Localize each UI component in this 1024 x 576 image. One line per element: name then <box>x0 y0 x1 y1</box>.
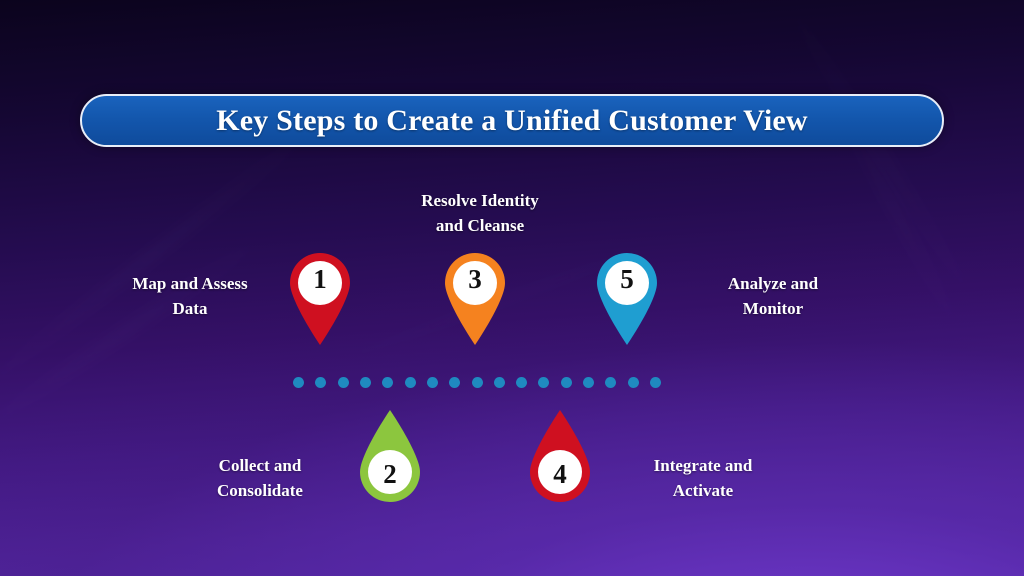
connector-dot <box>427 377 438 388</box>
step-pin-4[interactable]: 4 <box>525 410 595 506</box>
step-number-2: 2 <box>355 459 425 490</box>
step-label-2: Collect and Consolidate <box>166 453 354 503</box>
background-streak <box>784 0 976 304</box>
connector-dot <box>583 377 594 388</box>
page-title: Key Steps to Create a Unified Customer V… <box>216 104 808 138</box>
step-label-5: Analyze and Monitor <box>678 271 868 321</box>
connector-dot <box>494 377 505 388</box>
step-number-5: 5 <box>592 264 662 295</box>
dotted-connector-track <box>293 375 661 389</box>
step-label-1: Map and Assess Data <box>96 271 284 321</box>
connector-dot <box>605 377 616 388</box>
connector-dot <box>293 377 304 388</box>
connector-dot <box>382 377 393 388</box>
connector-dot <box>472 377 483 388</box>
step-number-4: 4 <box>525 459 595 490</box>
connector-dot <box>405 377 416 388</box>
step-pin-3[interactable]: 3 <box>440 249 510 345</box>
connector-dot <box>516 377 527 388</box>
step-number-3: 3 <box>440 264 510 295</box>
connector-dot <box>561 377 572 388</box>
connector-dot <box>650 377 661 388</box>
background-streak <box>0 238 263 425</box>
title-banner: Key Steps to Create a Unified Customer V… <box>80 94 944 147</box>
step-pin-5[interactable]: 5 <box>592 249 662 345</box>
step-label-4: Integrate and Activate <box>608 453 798 503</box>
connector-dot <box>315 377 326 388</box>
slide-canvas: Key Steps to Create a Unified Customer V… <box>0 0 1024 576</box>
connector-dot <box>538 377 549 388</box>
connector-dot <box>360 377 371 388</box>
step-number-1: 1 <box>285 264 355 295</box>
step-pin-1[interactable]: 1 <box>285 249 355 345</box>
connector-dot <box>338 377 349 388</box>
connector-dot <box>449 377 460 388</box>
step-pin-2[interactable]: 2 <box>355 410 425 506</box>
step-label-3: Resolve Identity and Cleanse <box>385 188 575 238</box>
connector-dot <box>628 377 639 388</box>
background-streak <box>0 126 316 387</box>
